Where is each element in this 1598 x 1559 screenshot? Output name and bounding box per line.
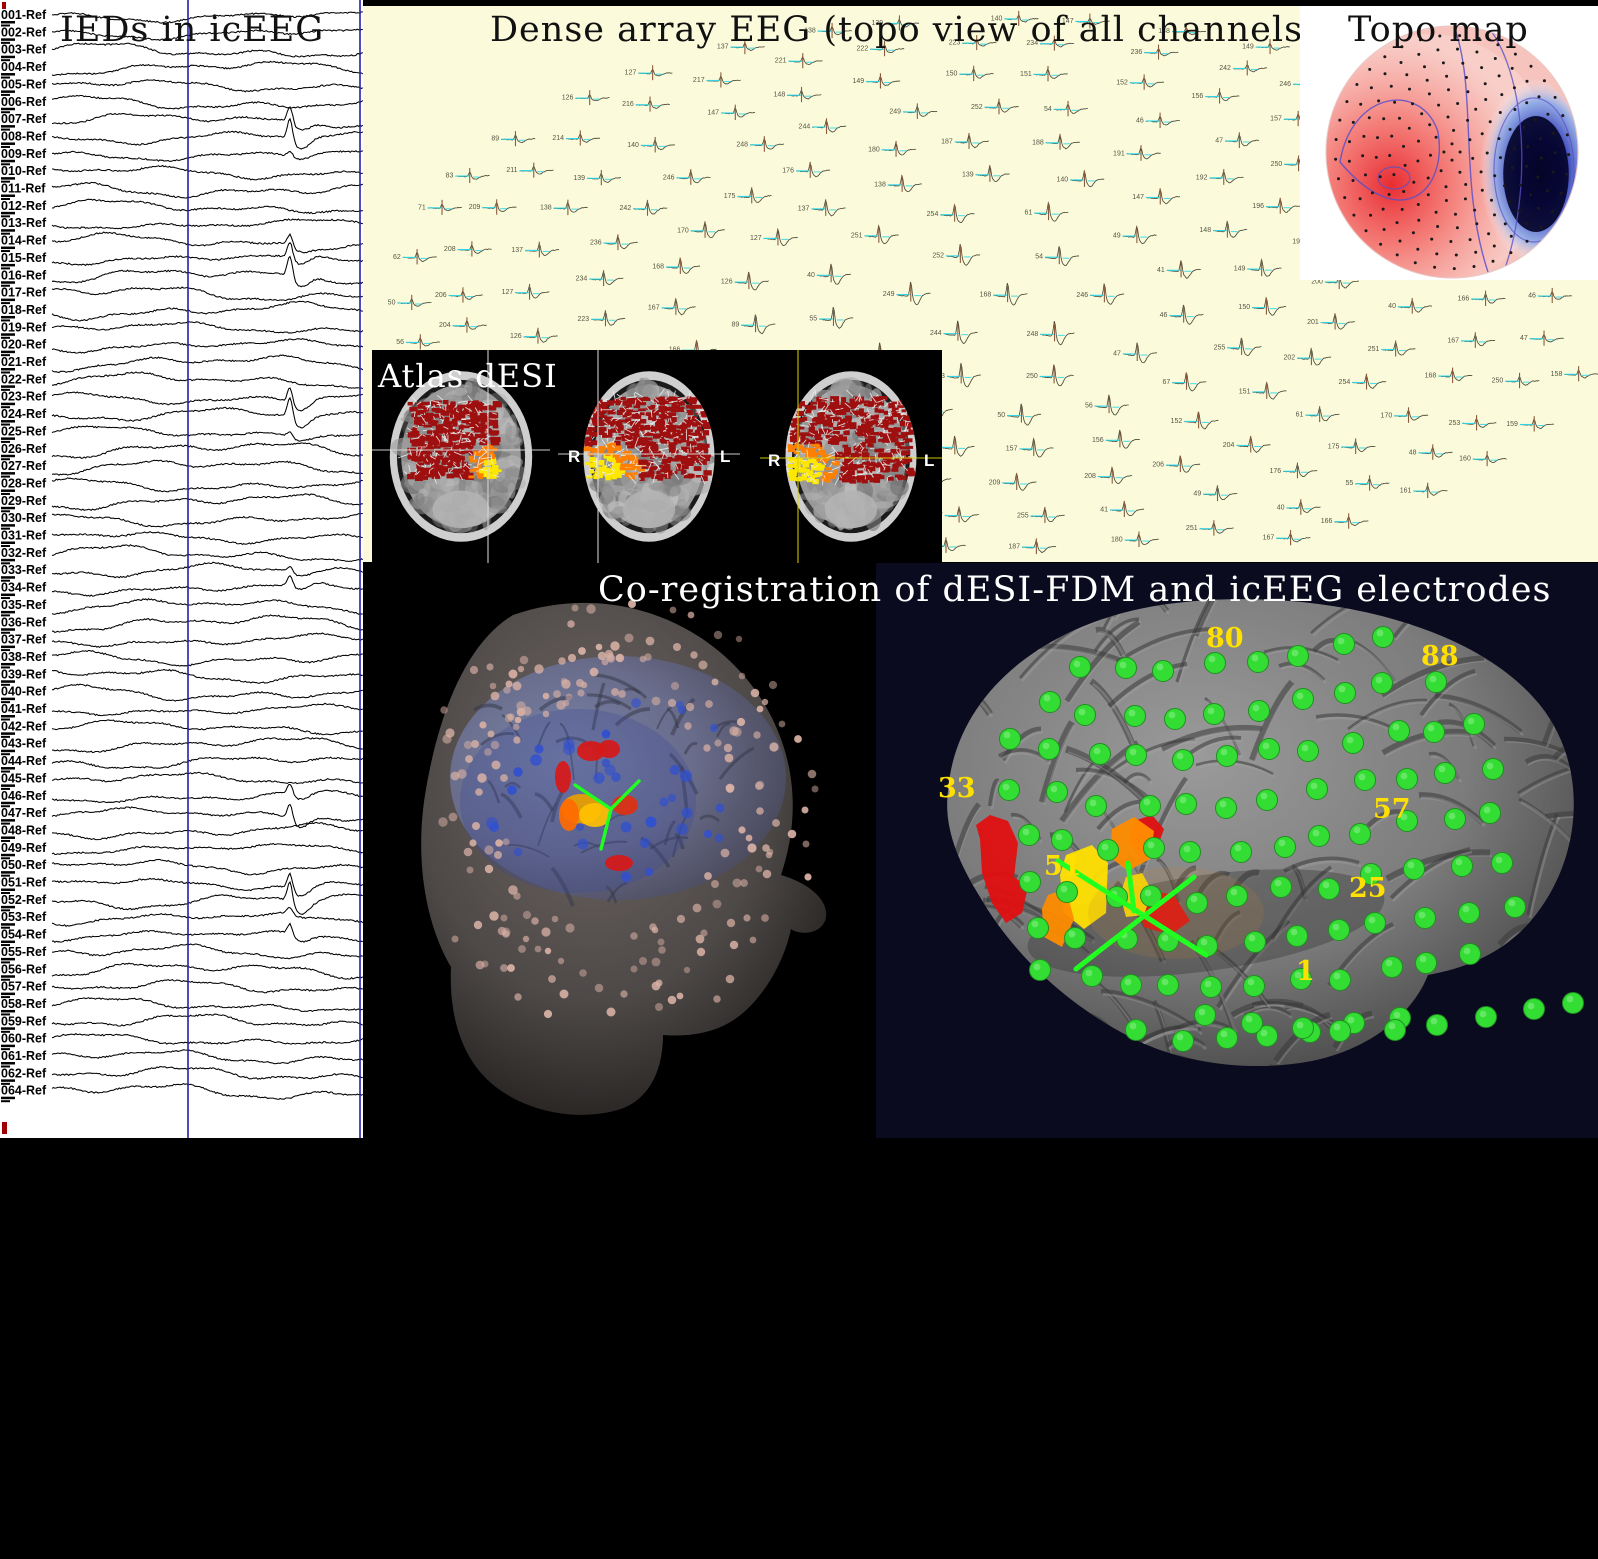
scalp-sensor[interactable] <box>794 735 802 743</box>
dense-channel-plot[interactable]: 236 <box>590 234 638 250</box>
icEEG-electrode[interactable] <box>1424 722 1445 743</box>
scalp-sensor[interactable] <box>491 692 500 701</box>
scalp-sensor[interactable] <box>471 740 479 748</box>
icEEG-electrode[interactable] <box>1126 1020 1147 1041</box>
scalp-sensor[interactable] <box>725 754 734 763</box>
dense-channel-plot[interactable]: 54 <box>1035 246 1079 265</box>
dense-channel-plot[interactable]: 176 <box>1269 463 1317 479</box>
icEEG-electrode[interactable] <box>1307 779 1328 800</box>
dense-channel-plot[interactable]: 251 <box>1368 341 1416 357</box>
scalp-sensor[interactable] <box>779 721 786 728</box>
scalp-sensor[interactable] <box>713 995 720 1002</box>
scalp-sensor[interactable] <box>750 937 757 944</box>
dense-channel-plot[interactable]: 234 <box>576 270 624 286</box>
scalp-sensor[interactable] <box>552 916 559 923</box>
dense-channel-plot[interactable]: 252 <box>932 244 980 265</box>
scalp-sensor[interactable] <box>693 904 702 913</box>
dense-channel-plot[interactable]: 166 <box>1321 513 1369 528</box>
icEEG-electrode[interactable] <box>1330 970 1351 991</box>
scalp-sensor[interactable] <box>615 654 622 661</box>
dense-channel-plot[interactable]: 40 <box>1388 298 1432 314</box>
icEEG-electrode[interactable] <box>1040 692 1061 713</box>
dense-channel-plot[interactable]: 187 <box>1008 538 1056 554</box>
dense-channel-plot[interactable]: 250 <box>1492 373 1540 388</box>
dense-channel-plot[interactable]: 140 <box>627 137 675 152</box>
scalp-sensor[interactable] <box>523 936 529 942</box>
scalp-sensor[interactable] <box>543 693 550 700</box>
scalp-sensor[interactable] <box>464 741 472 749</box>
icEEG-electrode[interactable] <box>1445 809 1466 830</box>
scalp-sensor[interactable] <box>464 848 473 857</box>
scalp-sensor[interactable] <box>755 782 763 790</box>
icEEG-electrode[interactable] <box>1082 966 1103 987</box>
scalp-sensor[interactable] <box>737 718 745 726</box>
scalp-sensor[interactable] <box>518 666 524 672</box>
icEEG-electrode[interactable] <box>1524 999 1545 1020</box>
scalp-sensor[interactable] <box>513 682 522 691</box>
dense-channel-plot[interactable]: 206 <box>435 287 483 302</box>
icEEG-electrode[interactable] <box>1227 886 1248 907</box>
scalp-sensor[interactable] <box>772 819 780 827</box>
dense-channel-plot[interactable]: 196 <box>1252 198 1300 214</box>
scalp-sensor[interactable] <box>476 961 485 970</box>
intracranial-electrode[interactable] <box>576 823 584 831</box>
icEEG-electrode[interactable] <box>1019 825 1040 846</box>
scalp-sensor[interactable] <box>495 839 503 847</box>
scalp-sensor[interactable] <box>500 774 508 782</box>
intracranial-electrode[interactable] <box>716 804 725 813</box>
icEEG-electrode[interactable] <box>1075 705 1096 726</box>
scalp-sensor[interactable] <box>714 739 721 746</box>
scalp-sensor[interactable] <box>639 957 647 965</box>
dense-channel-plot[interactable]: 48 <box>1409 444 1453 460</box>
dense-channel-plot[interactable]: 214 <box>552 130 600 145</box>
icEEG-electrode[interactable] <box>1173 1031 1194 1052</box>
scalp-sensor[interactable] <box>489 911 498 920</box>
scalp-sensor[interactable] <box>640 656 647 663</box>
dense-channel-plot[interactable]: 55 <box>1346 475 1390 491</box>
dense-channel-plot[interactable]: 175 <box>724 187 772 203</box>
dense-channel-plot[interactable]: 46 <box>1136 113 1180 128</box>
scalp-sensor[interactable] <box>438 817 447 826</box>
scalp-sensor[interactable] <box>558 958 564 964</box>
scalp-sensor[interactable] <box>586 604 595 613</box>
scalp-sensor[interactable] <box>656 980 663 987</box>
dense-channel-plot[interactable]: 180 <box>1111 531 1159 547</box>
dense-channel-plot[interactable]: 40 <box>1277 499 1321 515</box>
scalp-sensor[interactable] <box>505 714 513 722</box>
scalp-sensor[interactable] <box>513 736 520 743</box>
dense-channel-plot[interactable]: 254 <box>1339 374 1387 390</box>
dense-channel-plot[interactable]: 148 <box>774 87 822 102</box>
scalp-sensor[interactable] <box>747 843 756 852</box>
scalp-sensor[interactable] <box>556 700 566 710</box>
icEEG-electrode[interactable] <box>1257 790 1278 811</box>
dense-channel-plot[interactable]: 176 <box>782 162 830 178</box>
dense-channel-plot[interactable]: 255 <box>1017 507 1065 523</box>
dense-channel-plot[interactable]: 83 <box>446 168 490 183</box>
scalp-sensor[interactable] <box>762 699 768 705</box>
dense-channel-plot[interactable]: 175 <box>1328 438 1376 454</box>
scalp-sensor[interactable] <box>673 643 681 651</box>
icEEG-electrode[interactable] <box>1389 721 1410 742</box>
scalp-sensor[interactable] <box>726 975 735 984</box>
scalp-sensor[interactable] <box>618 690 626 698</box>
intracranial-electrode[interactable] <box>710 724 719 733</box>
icEEG-electrode[interactable] <box>1397 811 1418 832</box>
scalp-sensor[interactable] <box>502 838 509 845</box>
dense-channel-plot[interactable]: 137 <box>511 242 559 258</box>
scalp-sensor[interactable] <box>740 879 748 887</box>
scalp-sensor[interactable] <box>746 835 753 842</box>
dense-channel-plot[interactable]: 166 <box>1458 291 1506 306</box>
scalp-sensor[interactable] <box>726 784 735 793</box>
icEEG-electrode[interactable] <box>1343 733 1364 754</box>
scalp-sensor[interactable] <box>568 654 576 662</box>
icEEG-electrode[interactable] <box>1057 882 1078 903</box>
scalp-sensor[interactable] <box>757 706 764 713</box>
icEEG-electrode[interactable] <box>1065 928 1086 949</box>
scalp-sensor[interactable] <box>671 682 679 690</box>
scalp-sensor[interactable] <box>465 755 473 763</box>
icEEG-electrode[interactable] <box>1483 759 1504 780</box>
dense-channel-plot[interactable]: 191 <box>1113 145 1161 161</box>
icEEG-electrode[interactable] <box>1365 913 1386 934</box>
dense-channel-plot[interactable]: 56 <box>1085 395 1129 415</box>
intracranial-electrode[interactable] <box>530 754 542 766</box>
dense-channel-plot[interactable]: 234 <box>1026 36 1074 51</box>
scalp-sensor[interactable] <box>769 742 778 751</box>
scalp-sensor[interactable] <box>753 731 760 738</box>
dense-channel-plot[interactable]: 139 <box>573 170 621 185</box>
intracranial-electrode[interactable] <box>578 839 589 850</box>
icEEG-electrode[interactable] <box>1000 729 1021 750</box>
intracranial-electrode[interactable] <box>621 872 631 882</box>
dense-channel-plot[interactable]: 46 <box>1528 288 1572 303</box>
dense-channel-plot[interactable]: 188 <box>1032 134 1080 150</box>
scalp-sensor[interactable] <box>484 748 492 756</box>
icEEG-electrode[interactable] <box>1090 744 1111 765</box>
icEEG-electrode[interactable] <box>1435 763 1456 784</box>
icEEG-electrode[interactable] <box>1086 796 1107 817</box>
scalp-sensor[interactable] <box>543 711 550 718</box>
icEEG-electrode[interactable] <box>1153 661 1174 682</box>
dense-channel-plot[interactable]: 148 <box>1199 221 1247 237</box>
scalp-sensor[interactable] <box>730 941 738 949</box>
dense-channel-plot[interactable]: 249 <box>883 282 931 305</box>
intracranial-electrode[interactable] <box>676 823 688 835</box>
scalp-sensor[interactable] <box>743 914 750 921</box>
dense-channel-plot[interactable]: 248 <box>736 136 784 152</box>
dense-channel-plot[interactable]: 149 <box>1234 260 1282 277</box>
icEEG-electrode[interactable] <box>1291 969 1312 990</box>
scalp-sensor[interactable] <box>658 946 666 954</box>
dense-channel-plot[interactable]: 244 <box>799 118 847 134</box>
scalp-sensor[interactable] <box>713 900 722 909</box>
icEEG-electrode[interactable] <box>1205 653 1226 674</box>
icEEG-electrode[interactable] <box>1180 842 1201 863</box>
icEEG-electrode[interactable] <box>1319 879 1340 900</box>
scalp-sensor[interactable] <box>652 958 661 967</box>
icEEG-electrode[interactable] <box>1505 897 1526 918</box>
scalp-sensor[interactable] <box>534 664 543 673</box>
scalp-sensor[interactable] <box>522 706 531 715</box>
dense-channel-plot[interactable]: 204 <box>439 317 487 332</box>
scalp-sensor[interactable] <box>761 914 769 922</box>
scalp-sensor[interactable] <box>479 721 486 728</box>
icEEG-electrode[interactable] <box>1116 658 1137 679</box>
intracranial-electrode[interactable] <box>602 759 611 768</box>
dense-channel-plot[interactable]: 217 <box>693 72 741 87</box>
scalp-sensor[interactable] <box>515 717 522 724</box>
dense-channel-plot[interactable]: 67 <box>1162 373 1206 392</box>
dense-channel-plot[interactable]: 221 <box>775 53 823 68</box>
intracranial-electrode[interactable] <box>611 772 621 782</box>
icEEG-electrode[interactable] <box>1098 840 1119 861</box>
icEEG-electrode[interactable] <box>1330 1021 1351 1042</box>
dense-channel-plot[interactable]: 50 <box>997 404 1041 425</box>
scalp-sensor[interactable] <box>721 849 730 858</box>
scalp-sensor[interactable] <box>684 722 691 729</box>
scalp-sensor[interactable] <box>704 872 712 880</box>
dense-channel-plot[interactable]: 138 <box>874 175 922 191</box>
icEEG-electrode[interactable] <box>1249 701 1270 722</box>
scalp-sensor[interactable] <box>491 741 500 750</box>
scalp-sensor[interactable] <box>700 929 707 936</box>
scalp-sensor[interactable] <box>485 865 493 873</box>
icEEG-electrode[interactable] <box>1216 798 1237 819</box>
scalp-sensor[interactable] <box>494 851 502 859</box>
dense-channel-plot[interactable]: 170 <box>677 221 725 237</box>
scalp-sensor[interactable] <box>467 867 474 874</box>
scalp-sensor[interactable] <box>652 697 661 706</box>
dense-channel-plot[interactable]: 201 <box>1307 313 1355 329</box>
scalp-sensor[interactable] <box>492 761 501 770</box>
icEEG-electrode[interactable] <box>1173 750 1194 771</box>
scalp-sensor[interactable] <box>558 657 566 665</box>
dense-channel-plot[interactable]: 180 <box>868 141 916 157</box>
dense-channel-plot[interactable]: 54 <box>1044 101 1088 116</box>
scalp-sensor[interactable] <box>711 880 719 888</box>
scalp-sensor[interactable] <box>509 670 518 679</box>
dense-channel-plot[interactable]: 62 <box>393 249 437 264</box>
dense-channel-plot[interactable]: 127 <box>502 284 550 300</box>
icEEG-electrode[interactable] <box>1329 920 1350 941</box>
intracranial-electrode[interactable] <box>670 765 680 775</box>
scalp-sensor[interactable] <box>553 690 561 698</box>
scalp-sensor[interactable] <box>501 915 508 922</box>
scalp-sensor[interactable] <box>803 841 810 848</box>
icEEG-electrode[interactable] <box>1217 1028 1238 1049</box>
icEEG-electrode[interactable] <box>1275 837 1296 858</box>
scalp-sensor[interactable] <box>607 1008 616 1017</box>
icEEG-electrode[interactable] <box>1140 796 1161 817</box>
scalp-sensor[interactable] <box>578 647 586 655</box>
scalp-sensor[interactable] <box>812 786 819 793</box>
intracranial-electrode[interactable] <box>631 698 641 708</box>
scalp-sensor[interactable] <box>548 975 556 983</box>
scalp-sensor[interactable] <box>452 936 459 943</box>
dense-channel-plot[interactable]: 149 <box>1242 39 1290 54</box>
dense-channel-plot[interactable]: 251 <box>851 226 899 244</box>
dense-channel-plot[interactable]: 150 <box>946 66 994 81</box>
scalp-sensor[interactable] <box>625 634 634 643</box>
dense-channel-plot[interactable]: 168 <box>652 258 700 274</box>
scalp-sensor[interactable] <box>620 990 627 997</box>
dense-channel-plot[interactable]: 223 <box>578 310 626 326</box>
icEEG-electrode[interactable] <box>1231 842 1252 863</box>
dense-channel-plot[interactable]: 246 <box>1076 284 1124 305</box>
intracranial-electrode[interactable] <box>513 767 522 776</box>
icEEG-electrode[interactable] <box>1271 877 1292 898</box>
icEEG-electrode[interactable] <box>1293 689 1314 710</box>
dense-channel-plot[interactable]: 248 <box>1027 321 1075 345</box>
dense-channel-plot[interactable]: 138 <box>804 23 852 38</box>
icEEG-electrode[interactable] <box>1385 1020 1406 1041</box>
icEEG-electrode[interactable] <box>1427 1015 1448 1036</box>
icEEG-electrode[interactable] <box>1361 864 1382 885</box>
dense-channel-plot[interactable]: 222 <box>857 41 905 56</box>
dense-channel-plot[interactable]: 71 <box>418 200 462 215</box>
intracranial-electrode[interactable] <box>507 785 517 795</box>
scalp-sensor[interactable] <box>727 919 735 927</box>
scalp-sensor[interactable] <box>531 917 539 925</box>
scalp-sensor[interactable] <box>677 993 684 1000</box>
scalp-sensor[interactable] <box>507 964 515 972</box>
icEEG-electrode[interactable] <box>1217 746 1238 767</box>
scalp-sensor[interactable] <box>449 813 458 822</box>
dense-channel-plot[interactable]: 216 <box>622 97 670 112</box>
dense-channel-plot[interactable]: 253 <box>1449 415 1497 430</box>
scalp-sensor[interactable] <box>579 969 587 977</box>
icEEG-electrode[interactable] <box>1460 944 1481 965</box>
icEEG-electrode[interactable] <box>1476 1007 1497 1028</box>
dense-channel-plot[interactable]: 167 <box>648 299 696 315</box>
scalp-sensor[interactable] <box>756 807 764 815</box>
scalp-sensor[interactable] <box>610 641 619 650</box>
scalp-sensor[interactable] <box>697 948 705 956</box>
dense-channel-plot[interactable]: 47 <box>1215 132 1259 148</box>
icEEG-electrode[interactable] <box>1464 714 1485 735</box>
dense-channel-plot[interactable]: 151 <box>1020 66 1068 81</box>
dense-channel-plot[interactable]: 138 <box>540 200 588 215</box>
dense-channel-plot[interactable]: 250 <box>1026 365 1074 386</box>
icEEG-electrode[interactable] <box>1492 853 1513 874</box>
dense-channel-plot[interactable]: 50 <box>388 295 432 310</box>
icEEG-electrode[interactable] <box>1158 975 1179 996</box>
intracranial-electrode[interactable] <box>602 730 611 739</box>
icEEG-electrode[interactable] <box>1373 627 1394 648</box>
dense-channel-plot[interactable]: 46 <box>1160 305 1204 324</box>
scalp-sensor[interactable] <box>590 668 599 677</box>
scalp-sensor[interactable] <box>699 661 708 670</box>
dense-channel-plot[interactable]: 140 <box>1057 171 1105 187</box>
scalp-sensor[interactable] <box>596 644 603 651</box>
dense-channel-plot[interactable]: 156 <box>1092 430 1140 448</box>
scalp-sensor[interactable] <box>668 996 677 1005</box>
scalp-sensor[interactable] <box>668 699 676 707</box>
scalp-sensor[interactable] <box>738 826 745 833</box>
dense-channel-plot[interactable]: 209 <box>469 199 517 214</box>
scalp-sensor[interactable] <box>544 1010 552 1018</box>
scalp-sensor[interactable] <box>732 727 741 736</box>
dense-channel-plot[interactable]: 49 <box>1113 226 1157 243</box>
dense-channel-plot[interactable]: 208 <box>1084 467 1132 483</box>
dense-channel-plot[interactable]: 254 <box>927 205 975 223</box>
icEEG-electrode[interactable] <box>1309 826 1330 847</box>
dense-channel-plot[interactable]: 126 <box>510 328 558 344</box>
intracranial-electrode[interactable] <box>534 744 543 753</box>
dense-channel-plot[interactable]: 147 <box>707 105 755 120</box>
scalp-sensor[interactable] <box>595 984 604 993</box>
icEEG-electrode[interactable] <box>1028 918 1049 939</box>
intracranial-electrode[interactable] <box>646 817 657 828</box>
scalp-sensor[interactable] <box>445 728 454 737</box>
scalp-sensor[interactable] <box>576 679 584 687</box>
dense-channel-plot[interactable]: 126 <box>562 90 610 105</box>
scalp-sensor[interactable] <box>523 911 531 919</box>
scalp-sensor[interactable] <box>686 703 694 711</box>
dense-channel-plot[interactable]: 251 <box>1186 520 1234 536</box>
dense-channel-plot[interactable]: 89 <box>491 131 535 146</box>
dense-channel-plot[interactable]: 152 <box>1116 74 1164 89</box>
scalp-sensor[interactable] <box>703 744 710 751</box>
icEEG-electrode[interactable] <box>1563 993 1584 1014</box>
dense-channel-plot[interactable]: 156 <box>1192 88 1240 103</box>
dense-channel-plot[interactable]: 246 <box>663 169 711 185</box>
icEEG-electrode[interactable] <box>1020 872 1041 893</box>
icEEG-electrode[interactable] <box>999 780 1020 801</box>
icEEG-electrode[interactable] <box>1480 803 1501 824</box>
scalp-sensor[interactable] <box>802 807 809 814</box>
icEEG-electrode[interactable] <box>1030 960 1051 981</box>
scalp-sensor[interactable] <box>470 666 478 674</box>
dense-channel-plot[interactable]: 159 <box>1506 416 1554 431</box>
dense-channel-plot[interactable]: 61 <box>1296 406 1340 422</box>
icEEG-electrode[interactable] <box>1288 646 1309 667</box>
icEEG-electrode[interactable] <box>1415 908 1436 929</box>
icEEG-electrode[interactable] <box>1125 706 1146 727</box>
scalp-sensor[interactable] <box>508 885 518 895</box>
scalp-sensor[interactable] <box>808 770 817 779</box>
dense-channel-plot[interactable]: 150 <box>1238 298 1286 315</box>
dense-channel-plot[interactable]: 252 <box>971 99 1019 115</box>
scalp-sensor[interactable] <box>655 1003 663 1011</box>
scalp-sensor[interactable] <box>804 873 811 880</box>
icEEG-electrode[interactable] <box>1259 739 1280 760</box>
icEEG-electrode[interactable] <box>1201 977 1222 998</box>
icEEG-electrode[interactable] <box>1459 903 1480 924</box>
dense-channel-plot[interactable]: 148 <box>1158 24 1206 39</box>
icEEG-electrode[interactable] <box>1355 770 1376 791</box>
dense-channel-plot[interactable]: 61 <box>1024 203 1068 221</box>
scalp-sensor[interactable] <box>602 659 609 666</box>
scalp-sensor[interactable] <box>469 839 476 846</box>
dense-channel-plot[interactable]: 160 <box>1459 451 1507 466</box>
icEEG-electrode[interactable] <box>1070 657 1091 678</box>
scalp-sensor[interactable] <box>630 932 637 939</box>
scalp-sensor[interactable] <box>490 683 497 690</box>
scalp-sensor[interactable] <box>520 656 529 665</box>
icEEG-electrode[interactable] <box>1204 704 1225 725</box>
scalp-sensor[interactable] <box>475 788 483 796</box>
scalp-sensor[interactable] <box>577 689 584 696</box>
scalp-sensor[interactable] <box>500 964 508 972</box>
scalp-sensor[interactable] <box>714 631 722 639</box>
dense-channel-plot[interactable]: 41 <box>1157 261 1201 279</box>
scalp-sensor[interactable] <box>484 845 493 854</box>
dense-channel-plot[interactable]: 187 <box>941 133 989 149</box>
